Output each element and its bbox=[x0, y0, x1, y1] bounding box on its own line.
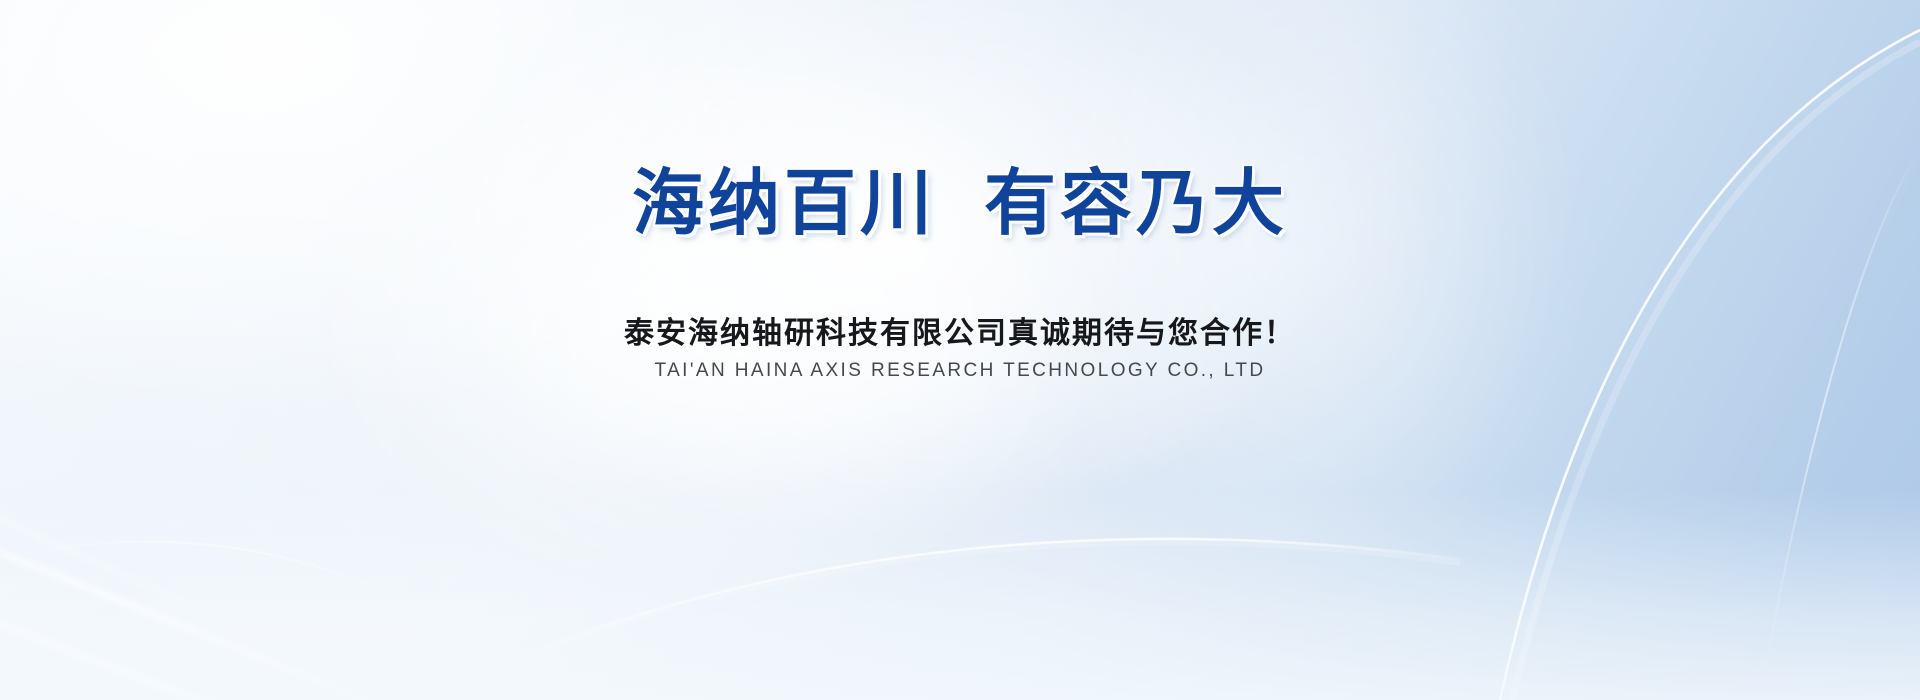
banner-headline: 海纳百川 有容乃大 bbox=[0, 166, 1920, 244]
banner-subtitle-chinese: 泰安海纳轴研科技有限公司真诚期待与您合作！ bbox=[0, 308, 1920, 352]
hero-banner: 海纳百川 有容乃大 泰安海纳轴研科技有限公司真诚期待与您合作！ TAI'AN H… bbox=[0, 0, 1920, 700]
banner-subtitle-english: TAI'AN HAINA AXIS RESEARCH TECHNOLOGY CO… bbox=[0, 360, 1920, 382]
banner-content: 海纳百川 有容乃大 泰安海纳轴研科技有限公司真诚期待与您合作！ TAI'AN H… bbox=[0, 0, 1920, 700]
